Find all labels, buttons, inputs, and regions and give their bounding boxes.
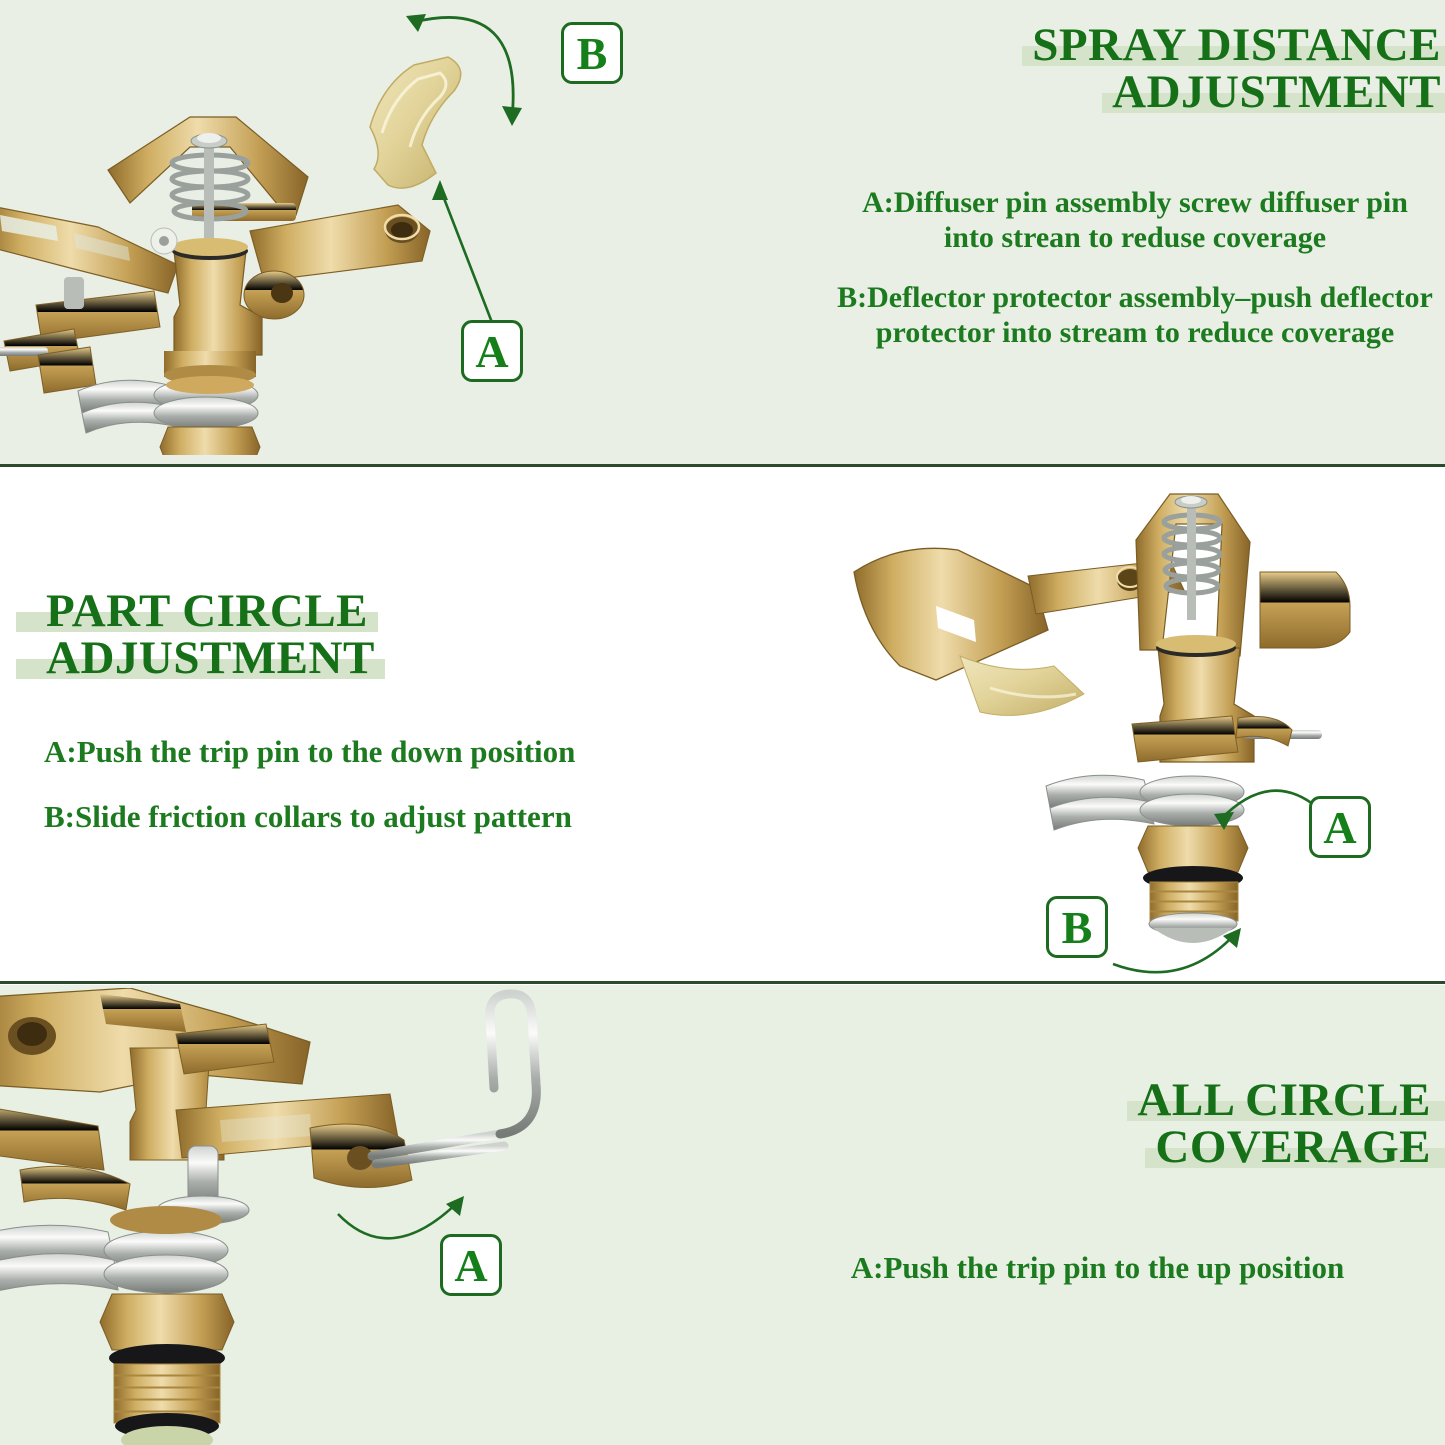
instruction-a: A:Push the trip pin to the up position [760, 1250, 1435, 1287]
instruction-a: A:Diffuser pin assembly screw diffuser p… [835, 185, 1435, 256]
callout-badge-b[interactable]: B [561, 22, 623, 84]
callout-badge-a[interactable]: A [440, 1234, 502, 1296]
panel-divider-2 [0, 981, 1445, 984]
section-all-heading: ALL CIRCLE COVERAGE [790, 1077, 1435, 1171]
section-part-body: A:Push the trip pin to the down position… [44, 734, 634, 835]
instruction-b: B:Slide friction collars to adjust patte… [44, 799, 634, 836]
section-all-body: A:Push the trip pin to the up position [760, 1250, 1435, 1287]
section-spray-heading: SPRAY DISTANCE ADJUSTMENT [845, 22, 1445, 116]
section-part-heading: PART CIRCLE ADJUSTMENT [42, 588, 662, 682]
instruction-a: A:Push the trip pin to the down position [44, 734, 634, 771]
sprinkler-image-spray-distance [0, 55, 478, 455]
heading-line-1: SPRAY DISTANCE [1032, 19, 1441, 71]
heading-line-1: ALL CIRCLE [1137, 1074, 1431, 1126]
heading-line-2: ADJUSTMENT [1112, 66, 1441, 118]
section-spray-body: A:Diffuser pin assembly screw diffuser p… [835, 185, 1435, 351]
instruction-sheet: A B SPRAY DISTANCE ADJUSTMENT A:Diffuser… [0, 0, 1445, 1445]
sprinkler-image-all-circle [0, 988, 570, 1445]
heading-line-1: PART CIRCLE [46, 585, 368, 637]
section-spray-distance: A B SPRAY DISTANCE ADJUSTMENT A:Diffuser… [0, 0, 1445, 465]
sprinkler-image-part-circle [840, 480, 1360, 950]
heading-line-2: ADJUSTMENT [46, 632, 375, 684]
callout-badge-a[interactable]: A [461, 320, 523, 382]
panel-divider-1 [0, 464, 1445, 467]
callout-badge-a[interactable]: A [1309, 796, 1371, 858]
callout-badge-b[interactable]: B [1046, 896, 1108, 958]
heading-line-2: COVERAGE [1155, 1121, 1431, 1173]
instruction-b: B:Deflector protector assembly–push defl… [835, 280, 1435, 351]
